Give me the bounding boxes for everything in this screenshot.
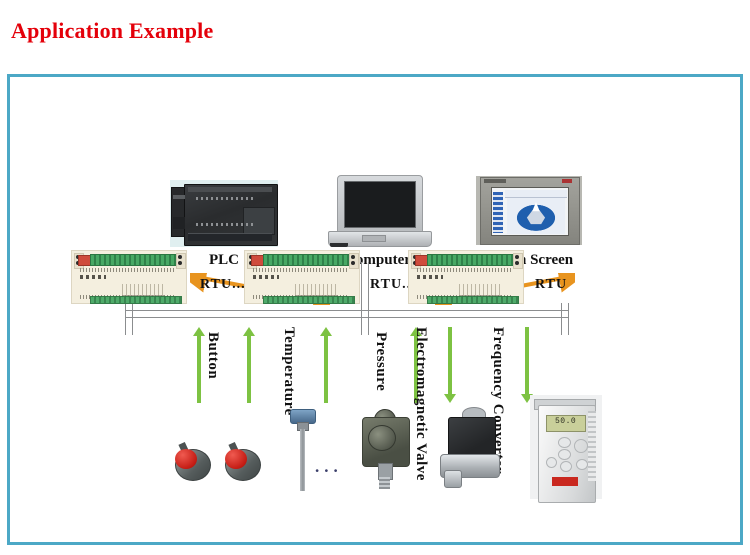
signal-label-button: Button xyxy=(204,332,221,379)
ellipsis-icon: ... xyxy=(315,457,343,477)
diagram-frame: PLC Computer Touch Screen xyxy=(7,74,743,545)
signal-label-electromagnetic-valve: Electromagnetic Valve xyxy=(412,327,429,481)
rtu-module-icon xyxy=(71,250,187,304)
signal-label-pressure: Pressure xyxy=(372,332,389,391)
signal-label-temperature: Temperature xyxy=(280,327,297,416)
label-rtu-right: RTU xyxy=(535,277,567,293)
vfd-display-value: 50.0 xyxy=(555,417,576,426)
rtu-module-icon xyxy=(408,250,524,304)
label-rtu-left: RTU... xyxy=(200,277,246,293)
page-title: Application Example xyxy=(11,18,213,44)
rtu-module-icon xyxy=(244,250,360,304)
